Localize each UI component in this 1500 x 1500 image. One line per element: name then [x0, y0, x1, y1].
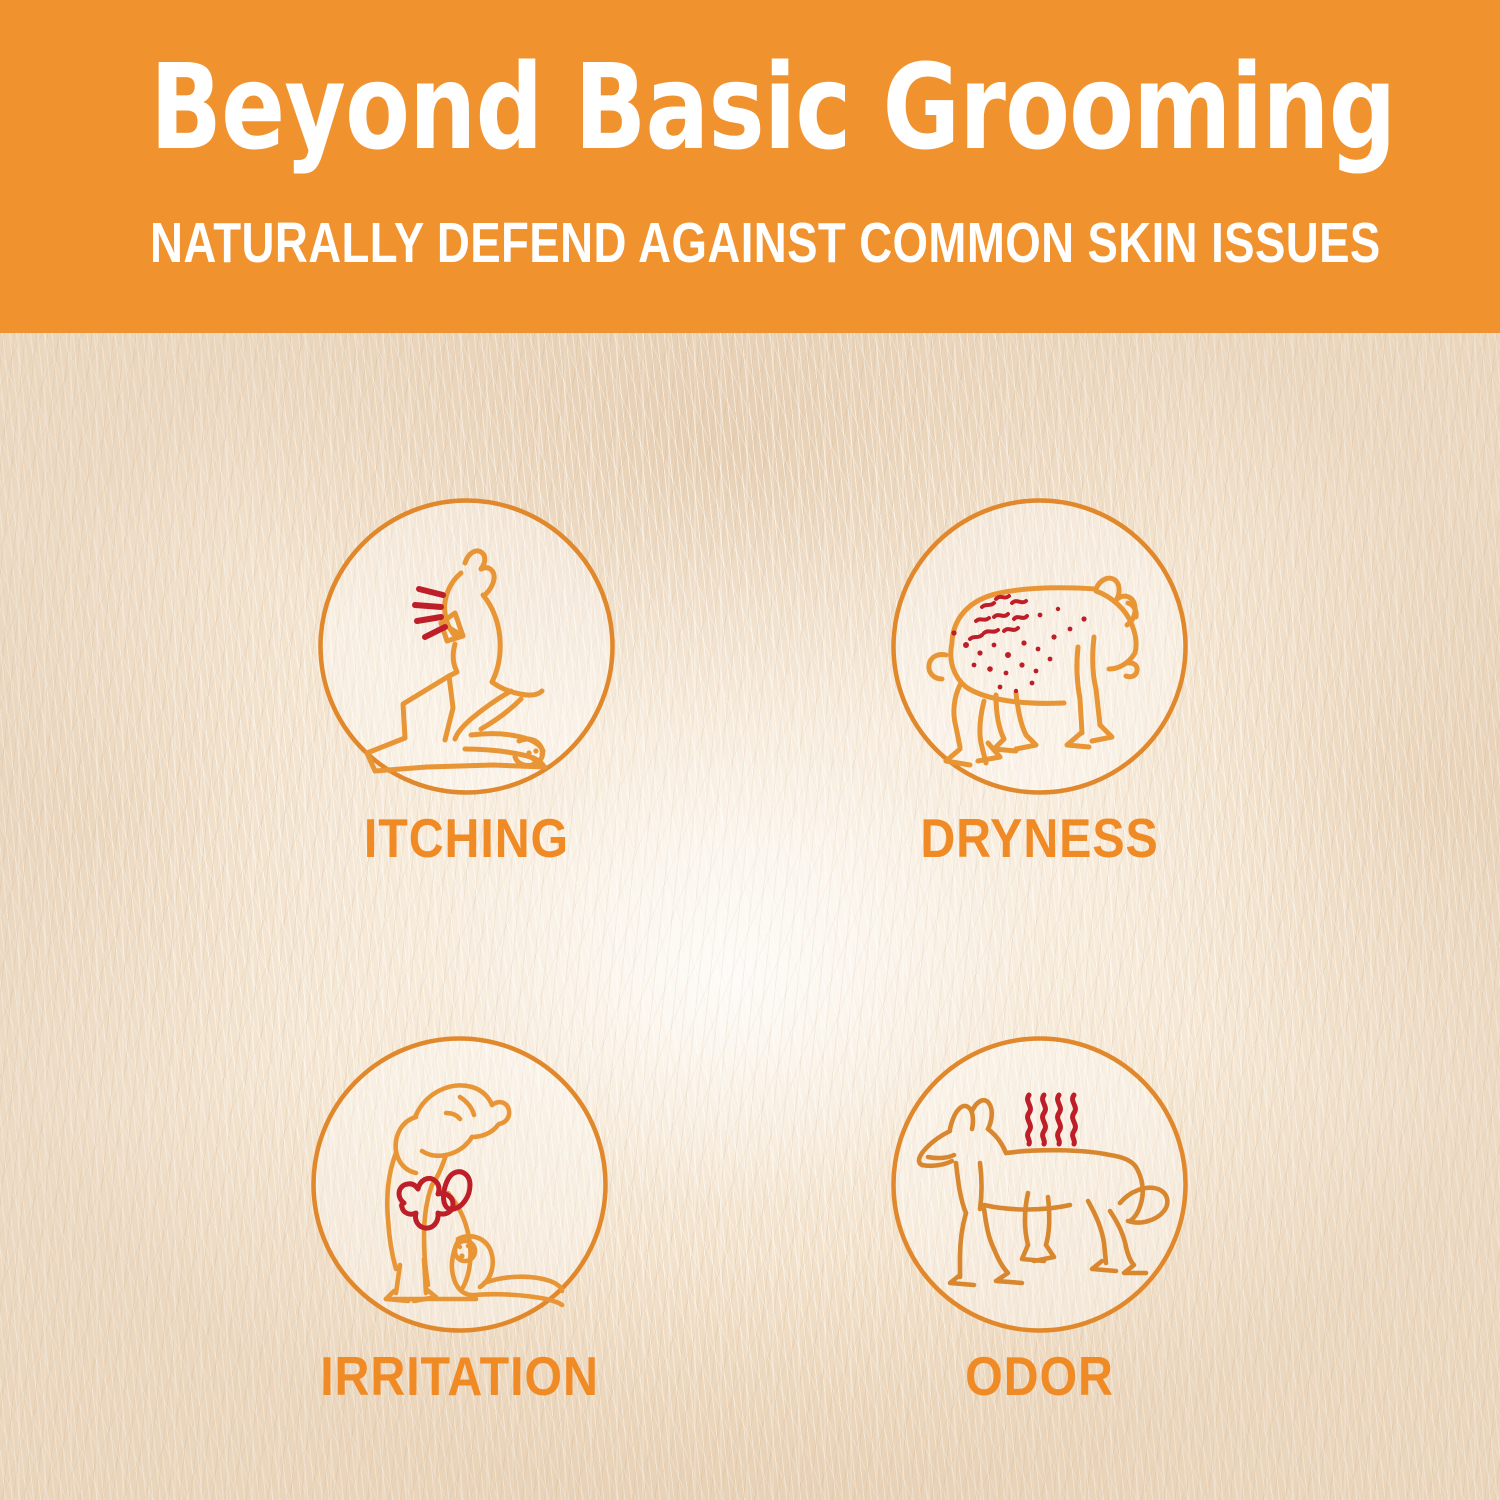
benefit-item-odor[interactable]: ODOR: [888, 1033, 1191, 1336]
irritation-badge: [308, 1033, 611, 1336]
dog-flaky-skin-icon: [888, 495, 1191, 798]
benefit-item-irritation[interactable]: IRRITATION: [308, 1033, 611, 1336]
promo-graphic: Beyond Basic Grooming NATURALLY DEFEND A…: [0, 0, 1500, 1500]
benefit-label-odor: ODOR: [836, 1345, 1243, 1407]
dryness-badge: [888, 495, 1191, 798]
dog-scratching-icon: [315, 495, 618, 798]
header-banner: Beyond Basic Grooming NATURALLY DEFEND A…: [0, 0, 1500, 333]
benefit-label-itching: ITCHING: [263, 807, 670, 869]
benefit-item-dryness[interactable]: DRYNESS: [888, 495, 1191, 798]
benefits-grid: ITCHING: [0, 333, 1500, 1500]
benefit-label-dryness: DRYNESS: [836, 807, 1243, 869]
page-subtitle: NATURALLY DEFEND AGAINST COMMON SKIN ISS…: [150, 213, 1350, 273]
odor-badge: [888, 1033, 1191, 1336]
benefit-label-irritation: IRRITATION: [256, 1345, 663, 1407]
itching-badge: [315, 495, 618, 798]
dog-irritated-patch-icon: [308, 1033, 611, 1336]
page-title: Beyond Basic Grooming: [150, 48, 1350, 166]
dog-odor-waves-icon: [888, 1033, 1191, 1336]
benefit-item-itching[interactable]: ITCHING: [315, 495, 618, 798]
